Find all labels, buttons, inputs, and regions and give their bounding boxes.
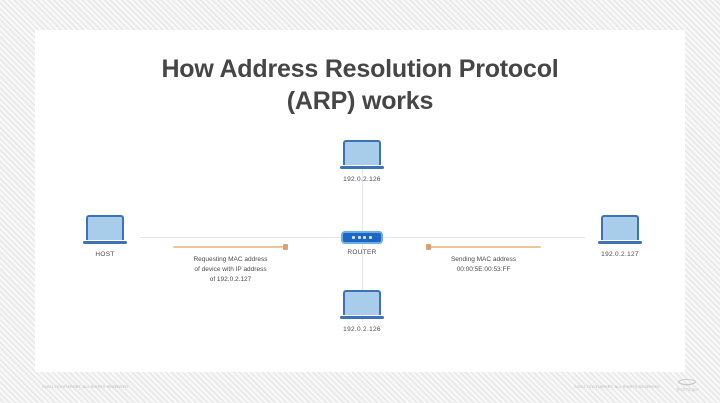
- node-device-right[interactable]: 192.0.2.127: [576, 215, 664, 258]
- message-request-line-3: of 192.0.2.127: [173, 275, 288, 285]
- arrow-shaft: [173, 246, 288, 248]
- laptop-base-icon: [598, 241, 642, 244]
- router-icon: [341, 231, 383, 244]
- message-reply-line-1: Sending MAC address: [426, 255, 541, 265]
- arrow-head: [426, 244, 431, 250]
- laptop-base-icon: [83, 241, 127, 244]
- laptop-icon: [340, 140, 384, 172]
- arrow-request-icon: [173, 243, 288, 251]
- laptop-screen-icon: [343, 140, 381, 165]
- arrow-shaft: [426, 246, 541, 248]
- arrow-reply-icon: [426, 243, 541, 251]
- node-host-left[interactable]: HOST: [61, 215, 149, 258]
- techtarget-logo-icon: TechTarget: [668, 378, 706, 392]
- node-device-bottom[interactable]: 192.0.2.126: [318, 290, 406, 333]
- laptop-screen-icon: [86, 215, 124, 240]
- laptop-icon: [83, 215, 127, 247]
- arrow-head: [283, 244, 288, 250]
- router-led-icon: [369, 236, 372, 239]
- message-reply-line-2: 00:00:5E:00:53:FF: [426, 265, 541, 275]
- footer-copyright-right: ©2021 TECHTARGET, ALL RIGHTS RESERVED: [574, 385, 660, 389]
- laptop-screen-icon: [343, 290, 381, 315]
- node-router-label: ROUTER: [318, 249, 406, 256]
- router-led-icon: [363, 236, 366, 239]
- node-device-right-label: 192.0.2.127: [576, 251, 664, 258]
- message-request-text: Requesting MAC address of device with IP…: [173, 255, 288, 285]
- slide-card: How Address Resolution Protocol (ARP) wo…: [35, 30, 685, 372]
- laptop-base-icon: [340, 316, 384, 319]
- message-reply-text: Sending MAC address 00:00:5E:00:53:FF: [426, 255, 541, 275]
- laptop-icon: [598, 215, 642, 247]
- node-host-left-label: HOST: [61, 251, 149, 258]
- message-request: Requesting MAC address of device with IP…: [173, 243, 288, 285]
- message-request-line-2: of device with IP address: [173, 265, 288, 275]
- router-led-icon: [358, 236, 361, 239]
- node-device-top[interactable]: 192.0.2.126: [318, 140, 406, 183]
- laptop-icon: [340, 290, 384, 322]
- node-device-top-label: 192.0.2.126: [318, 176, 406, 183]
- laptop-screen-icon: [601, 215, 639, 240]
- arp-diagram: 192.0.2.126 HOST 192.0.2.127: [35, 30, 685, 372]
- slide-canvas: How Address Resolution Protocol (ARP) wo…: [0, 0, 720, 403]
- laptop-base-icon: [340, 166, 384, 169]
- message-reply: Sending MAC address 00:00:5E:00:53:FF: [426, 243, 541, 275]
- router-led-icon: [352, 236, 355, 239]
- node-router[interactable]: ROUTER: [318, 231, 406, 256]
- message-request-line-1: Requesting MAC address: [173, 255, 288, 265]
- footer-copyright-left: ©2021 TECHTARGET, ALL RIGHTS RESERVED: [42, 385, 128, 389]
- node-device-bottom-label: 192.0.2.126: [318, 326, 406, 333]
- svg-text:TechTarget: TechTarget: [676, 387, 699, 392]
